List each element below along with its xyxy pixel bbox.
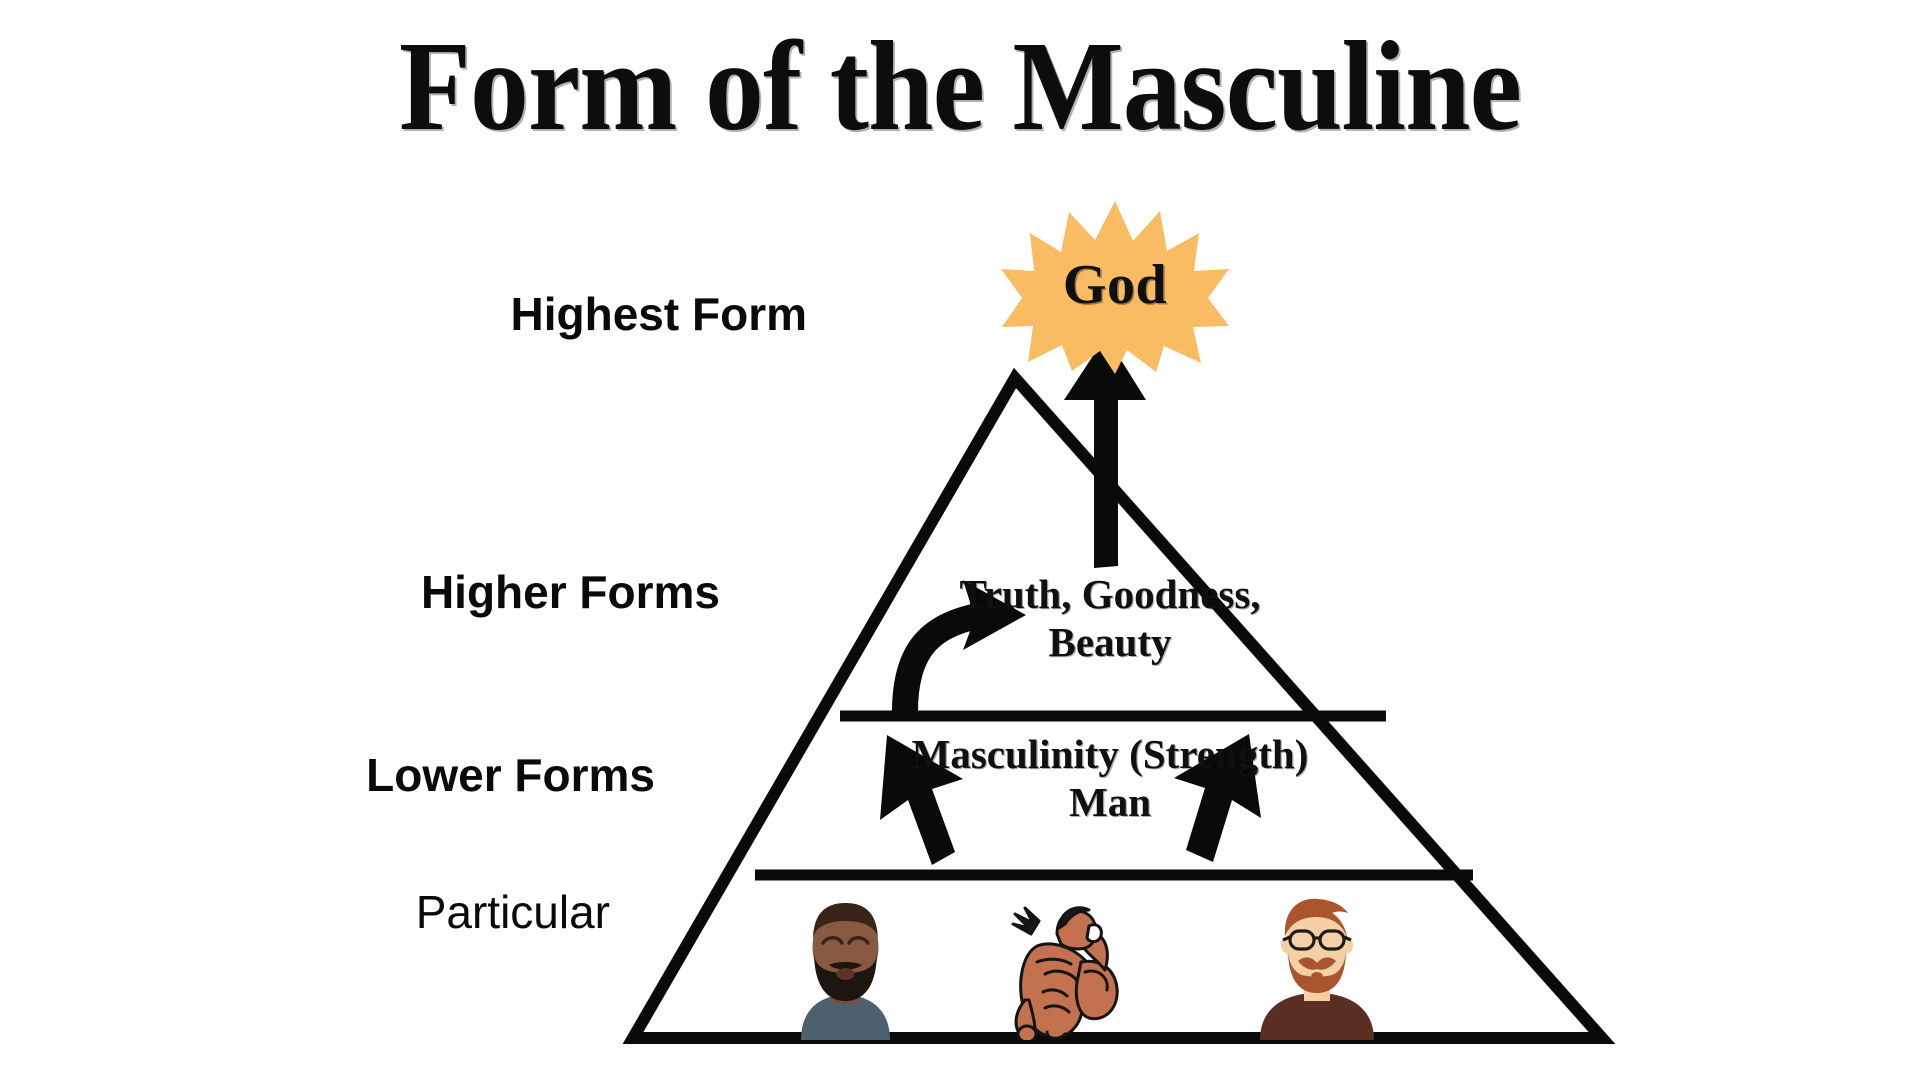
highest-form-starburst: God [1000,195,1230,375]
hipster-man-avatar [1252,887,1382,1040]
tier-label-particular: Particular [416,885,610,939]
tier-label-higher-forms: Higher Forms [421,565,720,619]
strongman-icon [985,888,1160,1040]
pyramid-text-higher-forms: Truth, Goodness, Beauty [900,570,1320,667]
strongman-avatar [985,888,1160,1040]
pyramid-diagram [0,0,1920,1080]
hipster-man-icon [1252,887,1382,1040]
bearded-man-icon [783,885,908,1040]
bearded-man-avatar [783,885,908,1040]
starburst-label: God [1000,195,1230,375]
tier-label-highest-form: Highest Form [511,287,807,341]
tier-label-lower-forms: Lower Forms [366,748,655,802]
pyramid-text-lower-forms: Masculinity (Strength) Man [820,730,1400,827]
